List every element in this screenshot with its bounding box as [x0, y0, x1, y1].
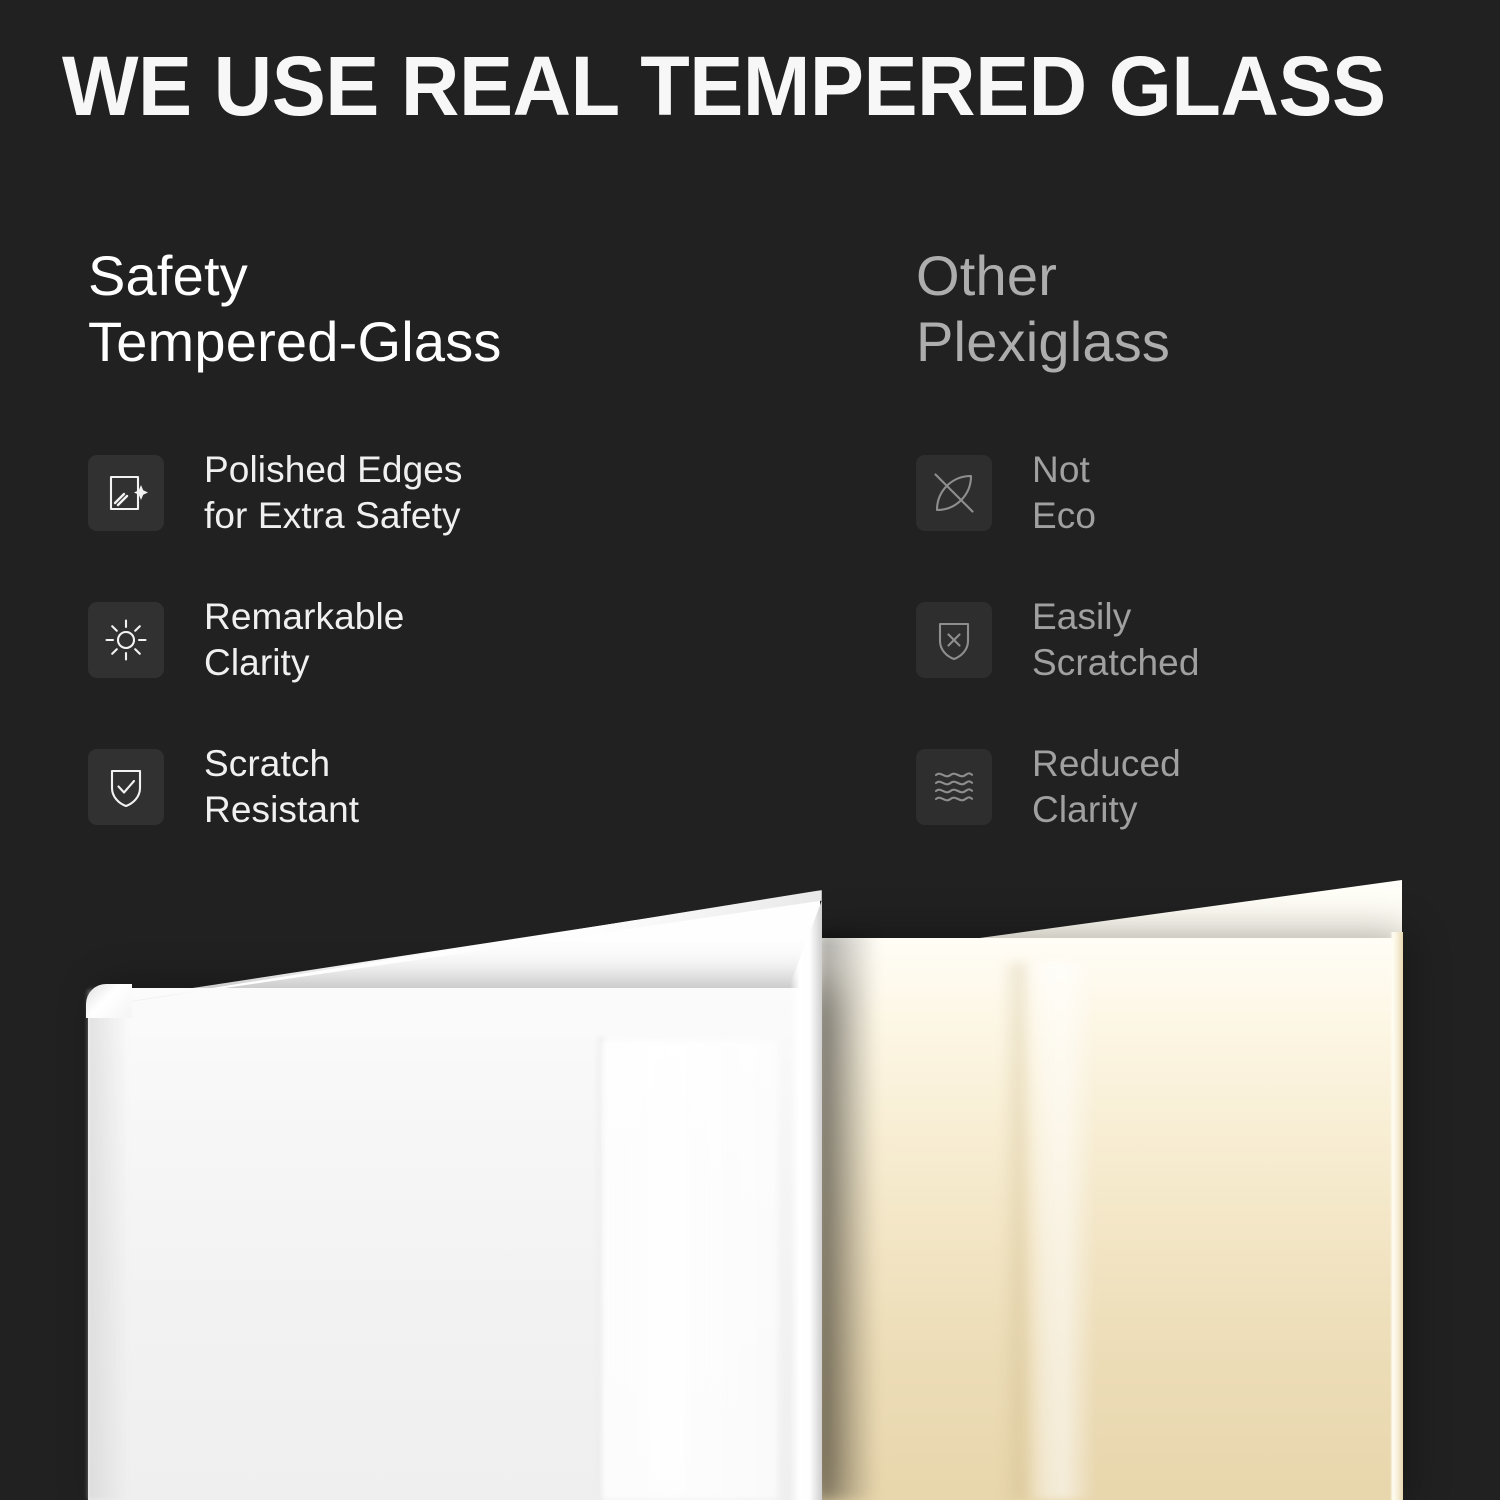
leaf-crossed-out-icon: [916, 455, 992, 531]
page-title: WE USE REAL TEMPERED GLASS: [62, 38, 1403, 134]
wavy-distortion-lines-icon: [916, 749, 992, 825]
column-other-plexiglass: Other Plexiglass Not Eco: [916, 243, 1476, 838]
feature-label-line2: Eco: [1032, 493, 1096, 539]
column-heading-line1: Safety: [88, 243, 848, 309]
shield-check-icon: [88, 749, 164, 825]
plexiglass-panel: [820, 938, 1402, 1500]
feature-item: Not Eco: [916, 441, 1476, 544]
feature-item: Reduced Clarity: [916, 735, 1476, 838]
feature-item: Easily Scratched: [916, 588, 1476, 691]
feature-item: Scratch Resistant: [88, 735, 848, 838]
feature-list: Not Eco Easily Scratched: [916, 441, 1476, 838]
feature-label-line1: Reduced: [1032, 741, 1181, 787]
shield-x-icon: [916, 602, 992, 678]
feature-label: Easily Scratched: [1032, 594, 1200, 686]
sun-brightness-icon: [88, 602, 164, 678]
column-heading-line1: Other: [916, 243, 1476, 309]
feature-label-line2: for Extra Safety: [204, 493, 463, 539]
glass-reflection: [600, 1040, 778, 1500]
feature-item: Remarkable Clarity: [88, 588, 848, 691]
column-safety-tempered-glass: Safety Tempered-Glass Polished Edges for…: [88, 243, 848, 838]
column-heading-line2: Plexiglass: [916, 309, 1476, 375]
polished-edge-sparkle-icon: [88, 455, 164, 531]
feature-label: Scratch Resistant: [204, 741, 359, 833]
feature-label-line1: Easily: [1032, 594, 1200, 640]
column-heading: Other Plexiglass: [916, 243, 1476, 375]
feature-label: Not Eco: [1032, 447, 1096, 539]
feature-label: Polished Edges for Extra Safety: [204, 447, 463, 539]
feature-label-line1: Not: [1032, 447, 1096, 493]
plexiglass-right-edge: [1390, 932, 1403, 1500]
feature-label-line1: Polished Edges: [204, 447, 463, 493]
feature-label-line1: Remarkable: [204, 594, 404, 640]
glass-polished-right-edge: [790, 900, 822, 1500]
column-heading-line2: Tempered-Glass: [88, 309, 848, 375]
glass-cast-shadow: [818, 932, 878, 1500]
feature-label-line2: Clarity: [1032, 787, 1181, 833]
feature-item: Polished Edges for Extra Safety: [88, 441, 848, 544]
feature-label-line2: Scratched: [1032, 640, 1200, 686]
plexiglass-sheen: [1026, 962, 1096, 1500]
feature-label: Remarkable Clarity: [204, 594, 404, 686]
column-heading: Safety Tempered-Glass: [88, 243, 848, 375]
feature-label-line2: Clarity: [204, 640, 404, 686]
feature-label: Reduced Clarity: [1032, 741, 1181, 833]
feature-label-line2: Resistant: [204, 787, 359, 833]
glass-rounded-corner: [86, 984, 132, 1018]
product-photo: [0, 880, 1500, 1500]
comparison-infographic: WE USE REAL TEMPERED GLASS Safety Temper…: [0, 0, 1500, 1500]
glass-left-shading: [88, 990, 128, 1500]
feature-label-line1: Scratch: [204, 741, 359, 787]
feature-list: Polished Edges for Extra Safety Remarkab…: [88, 441, 848, 838]
